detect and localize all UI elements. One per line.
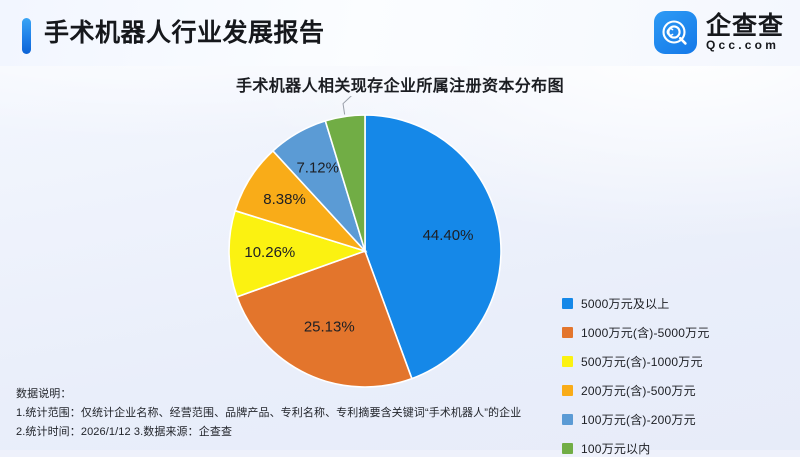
pie-slice-label: 25.13% [304, 318, 355, 335]
brand-name-cn: 企查查 [706, 13, 784, 39]
pie-leader-lines [343, 96, 362, 115]
pie-chart: 44.40%25.13%10.26%8.38%7.12%4.71% [200, 96, 540, 396]
page-header: 手术机器人行业发展报告 企查查 Qcc.com [0, 0, 800, 66]
footer-heading: 数据说明： [16, 385, 796, 404]
legend-item-label: 100万元以内 [581, 440, 650, 457]
pie-slice-label: 10.26% [244, 244, 295, 261]
legend-color-swatch [562, 356, 573, 367]
legend-item-label: 1000万元(含)-5000万元 [581, 324, 710, 341]
legend-color-swatch [562, 298, 573, 309]
chart-title: 手术机器人相关现存企业所属注册资本分布图 [0, 72, 800, 96]
title-accent-bar [22, 18, 31, 54]
pie-slice-label: 44.40% [423, 227, 474, 244]
pie-leader-line [343, 96, 362, 115]
footer-notes: 数据说明： 1.统计范围：仅统计企业名称、经营范围、品牌产品、专利名称、专利摘要… [16, 385, 796, 442]
footer-note-2: 2.统计时间：2026/1/12 3.数据来源：企查查 [16, 423, 796, 442]
brand-logo: 企查查 Qcc.com [654, 11, 784, 54]
legend-item[interactable]: 1000万元(含)-5000万元 [562, 325, 710, 339]
footer-note-1: 1.统计范围：仅统计企业名称、经营范围、品牌产品、专利名称、专利摘要含关键词“手… [16, 404, 796, 423]
legend-color-swatch [562, 443, 573, 454]
report-page: 手术机器人行业发展报告 企查查 Qcc.com 手术机器人相关现存企业所属注册资… [0, 0, 800, 450]
legend-item-label: 5000万元及以上 [581, 295, 670, 312]
legend-color-swatch [562, 327, 573, 338]
chart-area: 44.40%25.13%10.26%8.38%7.12%4.71% 5000万元… [0, 96, 800, 396]
page-title: 手术机器人行业发展报告 [44, 15, 325, 51]
pie-slice-label: 7.12% [296, 159, 339, 176]
brand-text: 企查查 Qcc.com [706, 13, 784, 52]
pie-slice-label: 8.38% [263, 191, 306, 208]
brand-name-en: Qcc.com [706, 39, 784, 52]
legend-item[interactable]: 100万元以内 [562, 441, 710, 455]
legend-item-label: 500万元(含)-1000万元 [581, 353, 703, 370]
qcc-logo-icon [654, 11, 697, 54]
legend-item[interactable]: 500万元(含)-1000万元 [562, 354, 710, 368]
legend-item[interactable]: 5000万元及以上 [562, 296, 710, 310]
